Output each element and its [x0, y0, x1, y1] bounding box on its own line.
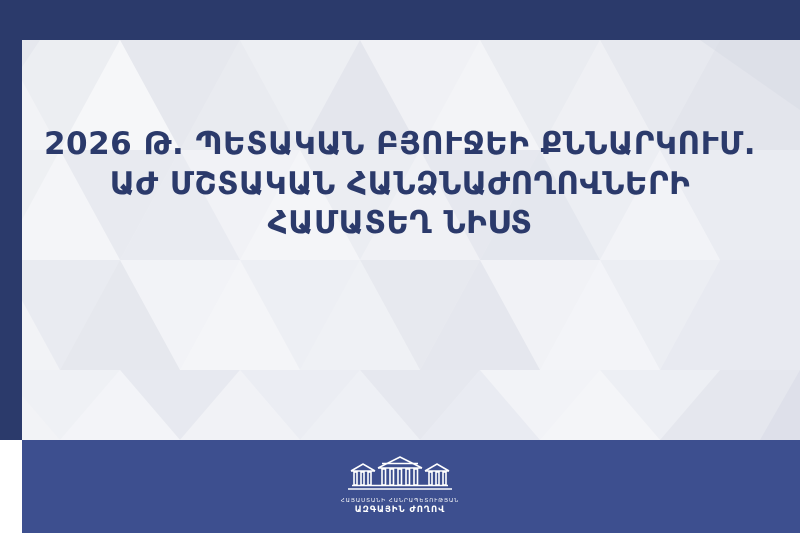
banner-title: 2026 Թ. ՊԵՏԱԿԱՆ ԲՅՈՒՋԵԻ ՔՆՆԱՐԿՈՒՄ. ԱԺ ՄՇ… [40, 125, 760, 244]
title-line-1: 2026 Թ. ՊԵՏԱԿԱՆ ԲՅՈՒՋԵԻ ՔՆՆԱՐԿՈՒՄ. [40, 125, 760, 165]
title-line-3: ՀԱՄԱՏԵՂ ՆԻՍՏ [40, 204, 760, 244]
parliament-building-icon [342, 452, 458, 494]
emblem-caption-assembly: ԱԶԳԱՅԻՆ ԺՈՂՈՎ [340, 505, 460, 516]
left-navy-strip [0, 40, 22, 440]
banner-canvas: 2026 Թ. ՊԵՏԱԿԱՆ ԲՅՈՒՋԵԻ ՔՆՆԱՐԿՈՒՄ. ԱԺ ՄՇ… [0, 0, 800, 533]
parliament-emblem: ՀԱՅԱՍՏԱՆԻ ՀԱՆՐԱՊԵՏՈՒԹՅԱՆ ԱԶԳԱՅԻՆ ԺՈՂՈՎ [340, 452, 460, 522]
bottom-left-white-gap [0, 440, 22, 533]
emblem-caption-republic: ՀԱՅԱՍՏԱՆԻ ՀԱՆՐԱՊԵՏՈՒԹՅԱՆ [340, 498, 460, 505]
title-line-2: ԱԺ ՄՇՏԱԿԱՆ ՀԱՆՁՆԱԺՈՂՈՎՆԵՐԻ [40, 165, 760, 205]
top-navy-band [0, 0, 800, 40]
